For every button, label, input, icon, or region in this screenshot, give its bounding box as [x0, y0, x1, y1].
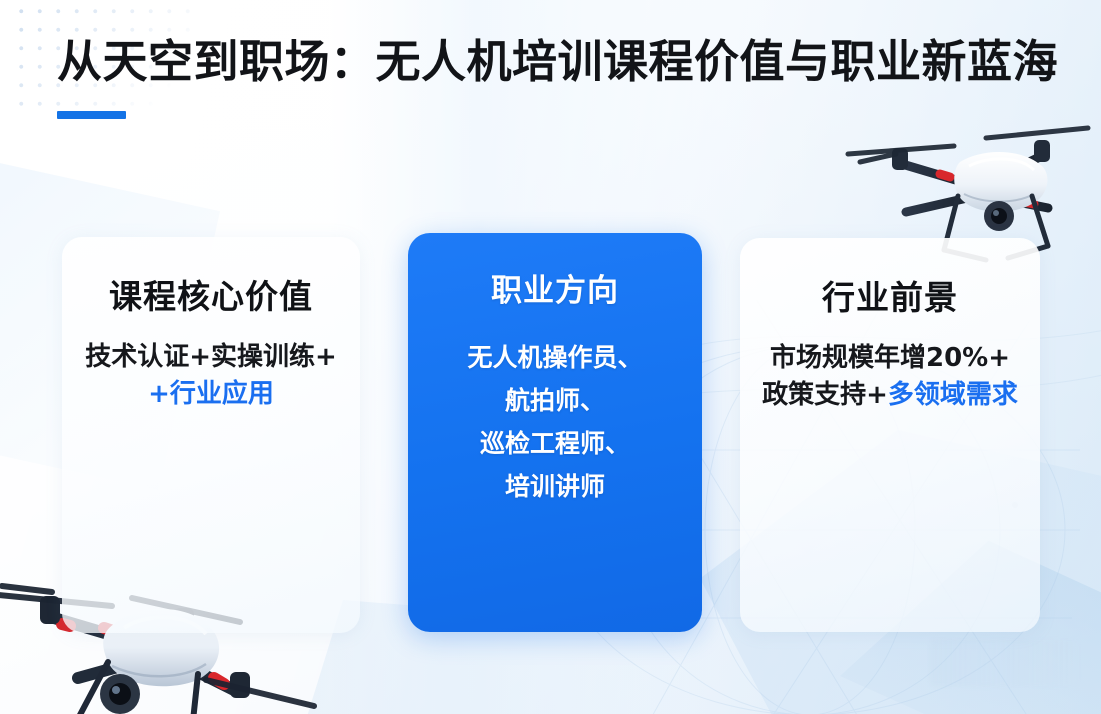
card-industry-outlook-line-1: 市场规模年增20%+ [762, 340, 1018, 378]
card-core-value-line-2: +行业应用 [85, 376, 337, 414]
card-industry-outlook-body: 市场规模年增20%+ 政策支持+多领域需求 [752, 340, 1028, 415]
card-career-direction-title: 职业方向 [491, 273, 619, 310]
title-accent-rule [57, 111, 126, 119]
card-core-value[interactable]: 课程核心价值 技术认证+实操训练+ +行业应用 [62, 237, 360, 633]
card-core-value-line-1: 技术认证+实操训练+ [85, 339, 337, 377]
background-smudge [930, 640, 1080, 686]
slide-canvas: 从天空到职场：无人机培训课程价值与职业新蓝海 课程核心价值 技术认证+实操训练+… [0, 0, 1101, 714]
card-career-direction-line-3: 巡检工程师、 [467, 422, 642, 465]
card-career-direction-body: 无人机操作员、 航拍师、 巡检工程师、 培训讲师 [457, 336, 652, 508]
card-industry-outlook-line-2-accent: 多领域需求 [888, 380, 1018, 410]
card-career-direction[interactable]: 职业方向 无人机操作员、 航拍师、 巡检工程师、 培训讲师 [408, 233, 702, 632]
card-core-value-body: 技术认证+实操训练+ +行业应用 [75, 339, 347, 414]
card-industry-outlook-title: 行业前景 [822, 278, 958, 318]
card-industry-outlook[interactable]: 行业前景 市场规模年增20%+ 政策支持+多领域需求 [740, 238, 1040, 632]
card-career-direction-line-2: 航拍师、 [467, 379, 642, 422]
card-core-value-title: 课程核心价值 [109, 277, 313, 317]
title-block: 从天空到职场：无人机培训课程价值与职业新蓝海 [57, 38, 1058, 119]
card-industry-outlook-line-2: 政策支持+多领域需求 [762, 377, 1018, 415]
card-career-direction-line-4: 培训讲师 [467, 465, 642, 508]
card-career-direction-line-1: 无人机操作员、 [467, 336, 642, 379]
page-title: 从天空到职场：无人机培训课程价值与职业新蓝海 [57, 38, 1058, 87]
card-industry-outlook-line-2-prefix: 政策支持+ [762, 380, 888, 410]
